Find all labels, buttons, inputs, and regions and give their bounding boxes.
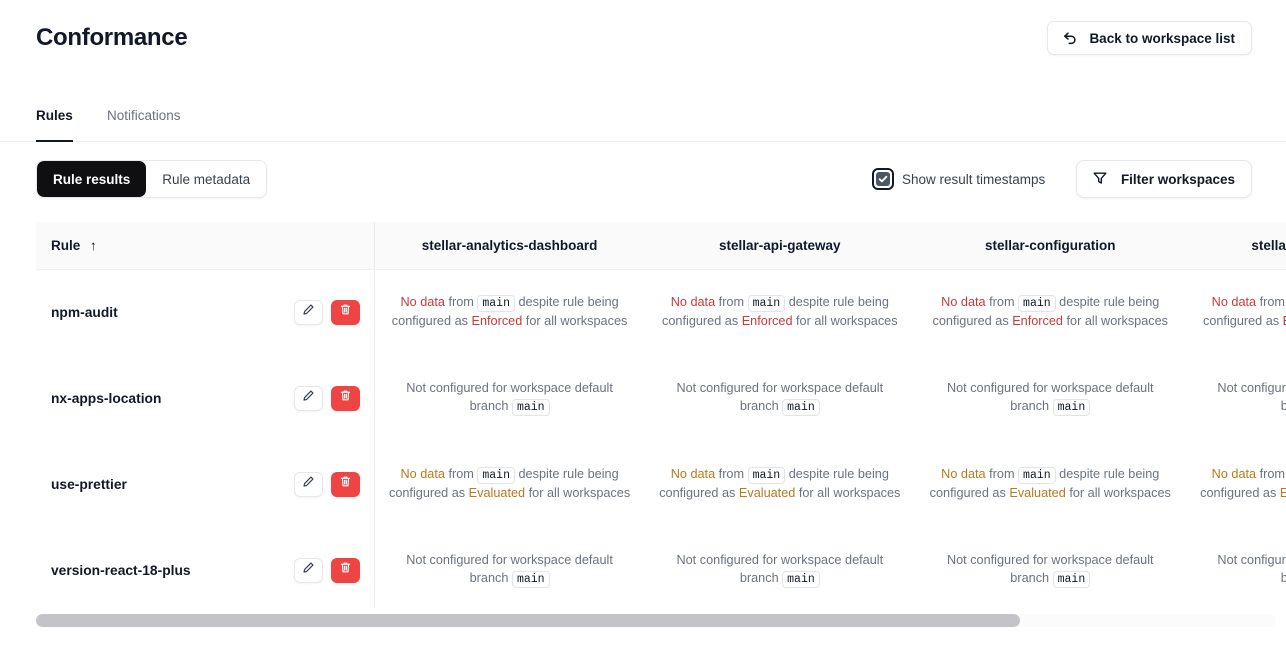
result-message: Not configured for workspace default bra… <box>657 380 903 416</box>
pencil-icon <box>302 561 315 579</box>
column-header-workspace-3[interactable]: stellar-design-system <box>1186 222 1286 269</box>
conformance-table: Rule ↑ stellar-analytics-dashboard stell… <box>36 222 1286 608</box>
pencil-icon <box>302 389 315 407</box>
result-cell: No data from main despite rule being con… <box>915 269 1185 355</box>
rule-name: version-react-18-plus <box>51 563 191 578</box>
result-status-nodata: No data <box>400 467 444 481</box>
view-mode-segmented-control: Rule results Rule metadata <box>36 160 267 198</box>
back-button-label: Back to workspace list <box>1089 31 1235 46</box>
primary-tabs: Rules Notifications <box>0 106 1286 142</box>
result-rule-status: Enforced <box>1012 314 1063 328</box>
result-cell: No data from main despite rule being con… <box>1186 441 1286 527</box>
undo-arrow-icon <box>1062 30 1078 46</box>
page-title: Conformance <box>36 24 187 52</box>
rule-name: npm-audit <box>51 305 118 320</box>
segment-rule-metadata[interactable]: Rule metadata <box>146 161 266 197</box>
result-cell: Not configured for workspace default bra… <box>645 527 915 608</box>
segment-rule-results[interactable]: Rule results <box>37 161 146 197</box>
result-rule-status: Enforced <box>472 314 523 328</box>
conformance-page: Conformance Back to workspace list Rules… <box>0 0 1286 667</box>
branch-code-badge: main <box>1018 295 1056 312</box>
column-header-rule-label: Rule <box>51 238 80 253</box>
result-message: No data from main despite rule being con… <box>387 466 633 502</box>
table-row: use-prettierNo data from main despite ru… <box>36 441 1286 527</box>
branch-code-badge: main <box>477 467 515 484</box>
result-rule-status: Evaluated <box>1280 486 1286 500</box>
column-header-workspace-2[interactable]: stellar-configuration <box>915 222 1185 269</box>
tab-notifications[interactable]: Notifications <box>107 106 181 142</box>
rule-actions <box>294 300 360 325</box>
table-header-row: Rule ↑ stellar-analytics-dashboard stell… <box>36 222 1286 269</box>
result-cell: Not configured for workspace default bra… <box>645 355 915 441</box>
result-rule-status: Evaluated <box>1009 486 1065 500</box>
edit-rule-button[interactable] <box>294 300 323 325</box>
delete-rule-button[interactable] <box>331 386 360 411</box>
edit-rule-button[interactable] <box>294 472 323 497</box>
show-result-timestamps-checkbox[interactable] <box>872 168 894 190</box>
branch-code-badge: main <box>1053 399 1091 416</box>
pencil-icon <box>302 303 315 321</box>
edit-rule-button[interactable] <box>294 386 323 411</box>
result-message: Not configured for workspace default bra… <box>927 552 1173 588</box>
sort-ascending-icon: ↑ <box>90 238 97 253</box>
pencil-icon <box>302 475 315 493</box>
rule-cell: npm-audit <box>36 269 374 355</box>
show-result-timestamps-label: Show result timestamps <box>902 172 1045 187</box>
conformance-table-scroll-region[interactable]: Rule ↑ stellar-analytics-dashboard stell… <box>36 222 1286 608</box>
funnel-icon <box>1092 170 1108 189</box>
filter-workspaces-button[interactable]: Filter workspaces <box>1076 160 1252 198</box>
branch-code-badge: main <box>1053 571 1091 588</box>
result-cell: Not configured for workspace default bra… <box>374 527 644 608</box>
result-message: Not configured for workspace default bra… <box>1198 552 1286 588</box>
result-message: No data from main despite rule being con… <box>657 294 903 330</box>
result-rule-status: Enforced <box>742 314 793 328</box>
result-message: No data from main despite rule being con… <box>1198 294 1286 330</box>
result-status-nodata: No data <box>671 295 715 309</box>
result-cell: No data from main despite rule being con… <box>374 441 644 527</box>
result-status-nodata: No data <box>941 467 985 481</box>
branch-code-badge: main <box>782 399 820 416</box>
trash-icon <box>339 475 352 493</box>
delete-rule-button[interactable] <box>331 300 360 325</box>
result-message: Not configured for workspace default bra… <box>387 380 633 416</box>
show-result-timestamps-control[interactable]: Show result timestamps <box>872 168 1045 190</box>
result-message: No data from main despite rule being con… <box>1198 466 1286 502</box>
rule-name: nx-apps-location <box>51 391 161 406</box>
result-status-nodata: No data <box>671 467 715 481</box>
edit-rule-button[interactable] <box>294 558 323 583</box>
branch-code-badge: main <box>1018 467 1056 484</box>
branch-code-badge: main <box>782 571 820 588</box>
horizontal-scrollbar-thumb[interactable] <box>36 614 1020 627</box>
result-message: Not configured for workspace default bra… <box>927 380 1173 416</box>
table-row: npm-auditNo data from main despite rule … <box>36 269 1286 355</box>
branch-code-badge: main <box>477 295 515 312</box>
result-rule-status: Evaluated <box>469 486 525 500</box>
rule-cell: use-prettier <box>36 441 374 527</box>
table-row: version-react-18-plusNot configured for … <box>36 527 1286 608</box>
rule-name: use-prettier <box>51 477 127 492</box>
rule-actions <box>294 386 360 411</box>
result-cell: No data from main despite rule being con… <box>645 269 915 355</box>
trash-icon <box>339 561 352 579</box>
back-to-workspace-list-button[interactable]: Back to workspace list <box>1047 21 1252 55</box>
result-status-nodata: No data <box>400 295 444 309</box>
rule-cell: version-react-18-plus <box>36 527 374 608</box>
result-cell: Not configured for workspace default bra… <box>915 355 1185 441</box>
result-message: No data from main despite rule being con… <box>927 294 1173 330</box>
branch-code-badge: main <box>748 295 786 312</box>
result-cell: No data from main despite rule being con… <box>645 441 915 527</box>
result-cell: No data from main despite rule being con… <box>374 269 644 355</box>
tab-rules[interactable]: Rules <box>36 106 73 142</box>
trash-icon <box>339 303 352 321</box>
table-head: Rule ↑ stellar-analytics-dashboard stell… <box>36 222 1286 269</box>
rule-actions <box>294 558 360 583</box>
result-message: No data from main despite rule being con… <box>927 466 1173 502</box>
result-message: Not configured for workspace default bra… <box>1198 380 1286 416</box>
column-header-workspace-1[interactable]: stellar-api-gateway <box>645 222 915 269</box>
delete-rule-button[interactable] <box>331 558 360 583</box>
result-status-nodata: No data <box>1212 467 1256 481</box>
result-status-nodata: No data <box>941 295 985 309</box>
branch-code-badge: main <box>512 571 550 588</box>
result-message: No data from main despite rule being con… <box>657 466 903 502</box>
result-message: No data from main despite rule being con… <box>387 294 633 330</box>
delete-rule-button[interactable] <box>331 472 360 497</box>
result-message: Not configured for workspace default bra… <box>657 552 903 588</box>
result-status-nodata: No data <box>1212 295 1256 309</box>
table-toolbar: Rule results Rule metadata Show result t… <box>0 160 1286 200</box>
rule-actions <box>294 472 360 497</box>
result-cell: Not configured for workspace default bra… <box>374 355 644 441</box>
table-row: nx-apps-locationNot configured for works… <box>36 355 1286 441</box>
horizontal-scrollbar-track[interactable] <box>36 614 1276 627</box>
result-message: Not configured for workspace default bra… <box>387 552 633 588</box>
result-cell: Not configured for workspace default bra… <box>1186 527 1286 608</box>
result-cell: Not configured for workspace default bra… <box>915 527 1185 608</box>
result-rule-status: Evaluated <box>739 486 795 500</box>
rule-cell: nx-apps-location <box>36 355 374 441</box>
check-icon <box>878 174 888 184</box>
result-cell: Not configured for workspace default bra… <box>1186 355 1286 441</box>
result-cell: No data from main despite rule being con… <box>1186 269 1286 355</box>
column-header-workspace-0[interactable]: stellar-analytics-dashboard <box>374 222 644 269</box>
filter-workspaces-label: Filter workspaces <box>1121 172 1235 187</box>
checkbox-fill <box>876 172 890 186</box>
result-cell: No data from main despite rule being con… <box>915 441 1185 527</box>
page-header: Conformance Back to workspace list <box>0 0 1286 82</box>
branch-code-badge: main <box>748 467 786 484</box>
table-body: npm-auditNo data from main despite rule … <box>36 269 1286 608</box>
column-header-rule[interactable]: Rule ↑ <box>36 222 374 269</box>
trash-icon <box>339 389 352 407</box>
branch-code-badge: main <box>512 399 550 416</box>
